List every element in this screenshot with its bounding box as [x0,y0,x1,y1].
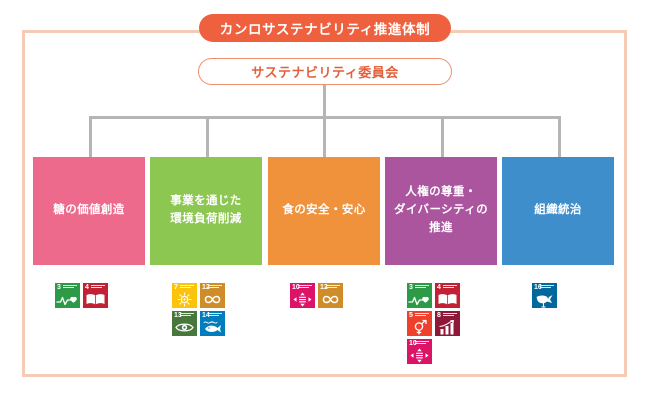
pillar-column-5: 組織統治16 [502,157,614,308]
pillar-box-human-rights-diversity[interactable]: 人権の尊重・ダイバーシティの推進 [385,157,497,265]
pillar-label-line: 環境負荷削減 [170,211,241,229]
sdg-number: 3 [57,284,61,291]
sdg-number: 4 [437,284,441,291]
sdg-8-growth-chart-icon[interactable]: 8 [435,311,460,336]
pillar-box-environmental-impact-reduction[interactable]: 事業を通じた環境負荷削減 [150,157,262,265]
connector-drop-2 [206,116,209,157]
pillar-label-line: 食の安全・安心 [282,202,365,220]
connector-drop-5 [558,116,561,157]
pillar-column-4: 人権の尊重・ダイバーシティの推進345810 [385,157,497,364]
sdg-10-inequality-arrows-icon[interactable]: 10 [407,339,432,364]
pillar-column-2: 事業を通じた環境負荷削減7121314 [150,157,262,336]
sdg-caption-lines [443,285,459,290]
sdg-number: 7 [174,284,178,291]
connector-drop-4 [441,116,444,157]
sdg-caption-lines [180,313,196,318]
sdg-caption-lines [91,285,107,290]
sdg-icon-grid: 345810 [407,283,460,364]
sdg-13-climate-eye-icon[interactable]: 13 [172,311,197,336]
sdg-icon-grid: 7121314 [172,283,225,336]
pillar-label-line: 組織統治 [534,202,582,220]
sdg-3-health-pulse-icon[interactable]: 3 [55,283,80,308]
pillar-label-line: 人権の尊重・ [394,184,488,202]
sdg-14-life-below-water-fish-icon[interactable]: 14 [200,311,225,336]
sdg-caption-lines [540,285,556,290]
sdg-12-consumption-infinity-icon[interactable]: 12 [200,283,225,308]
pillar-label: 食の安全・安心 [282,202,365,220]
pillar-box-food-safety-security[interactable]: 食の安全・安心 [268,157,380,265]
pillar-column-1: 糖の価値創造34 [33,157,145,308]
connector-trunk [323,85,326,118]
sdg-caption-lines [415,341,431,346]
pillar-box-sugar-value-creation[interactable]: 糖の価値創造 [33,157,145,265]
pillar-label: 人権の尊重・ダイバーシティの推進 [394,184,488,237]
pillar-label: 事業を通じた環境負荷削減 [170,193,241,229]
sdg-16-peace-dove-icon[interactable]: 16 [532,283,557,308]
sdg-caption-lines [180,285,196,290]
sdg-7-energy-sun-icon[interactable]: 7 [172,283,197,308]
page-title: カンロサステナビリティ推進体制 [199,14,451,42]
sdg-number: 5 [409,312,413,319]
pillar-label: 組織統治 [534,202,582,220]
sdg-icon-grid: 1012 [290,283,343,308]
sdg-caption-lines [415,313,431,318]
sdg-4-education-book-icon[interactable]: 4 [435,283,460,308]
sdg-caption-lines [326,285,342,290]
sdg-number: 8 [437,312,441,319]
sustainability-structure-diagram: カンロサステナビリティ推進体制 サステナビリティ委員会 糖の価値創造34 事業を… [0,0,650,407]
sdg-icon-grid: 34 [55,283,108,308]
pillar-label-line: 事業を通じた [170,193,241,211]
pillar-label-line: 推進 [394,220,488,238]
sdg-12-consumption-infinity-icon[interactable]: 12 [318,283,343,308]
sdg-number: 3 [409,284,413,291]
pillar-column-3: 食の安全・安心1012 [268,157,380,308]
sdg-number: 4 [85,284,89,291]
sdg-caption-lines [443,313,459,318]
sdg-caption-lines [208,313,224,318]
sustainability-committee-node: サステナビリティ委員会 [198,58,452,85]
pillar-box-organizational-governance[interactable]: 組織統治 [502,157,614,265]
sdg-icon-grid: 16 [532,283,585,308]
sdg-caption-lines [415,285,431,290]
sdg-caption-lines [208,285,224,290]
sdg-10-inequality-arrows-icon[interactable]: 10 [290,283,315,308]
sdg-caption-lines [298,285,314,290]
sdg-caption-lines [63,285,79,290]
pillar-label-line: ダイバーシティの [394,202,488,220]
sdg-5-gender-equality-icon[interactable]: 5 [407,311,432,336]
connector-drop-1 [89,116,92,157]
pillar-label: 糖の価値創造 [53,202,124,220]
sdg-4-education-book-icon[interactable]: 4 [83,283,108,308]
sdg-3-health-pulse-icon[interactable]: 3 [407,283,432,308]
pillar-label-line: 糖の価値創造 [53,202,124,220]
connector-drop-3 [323,116,326,157]
